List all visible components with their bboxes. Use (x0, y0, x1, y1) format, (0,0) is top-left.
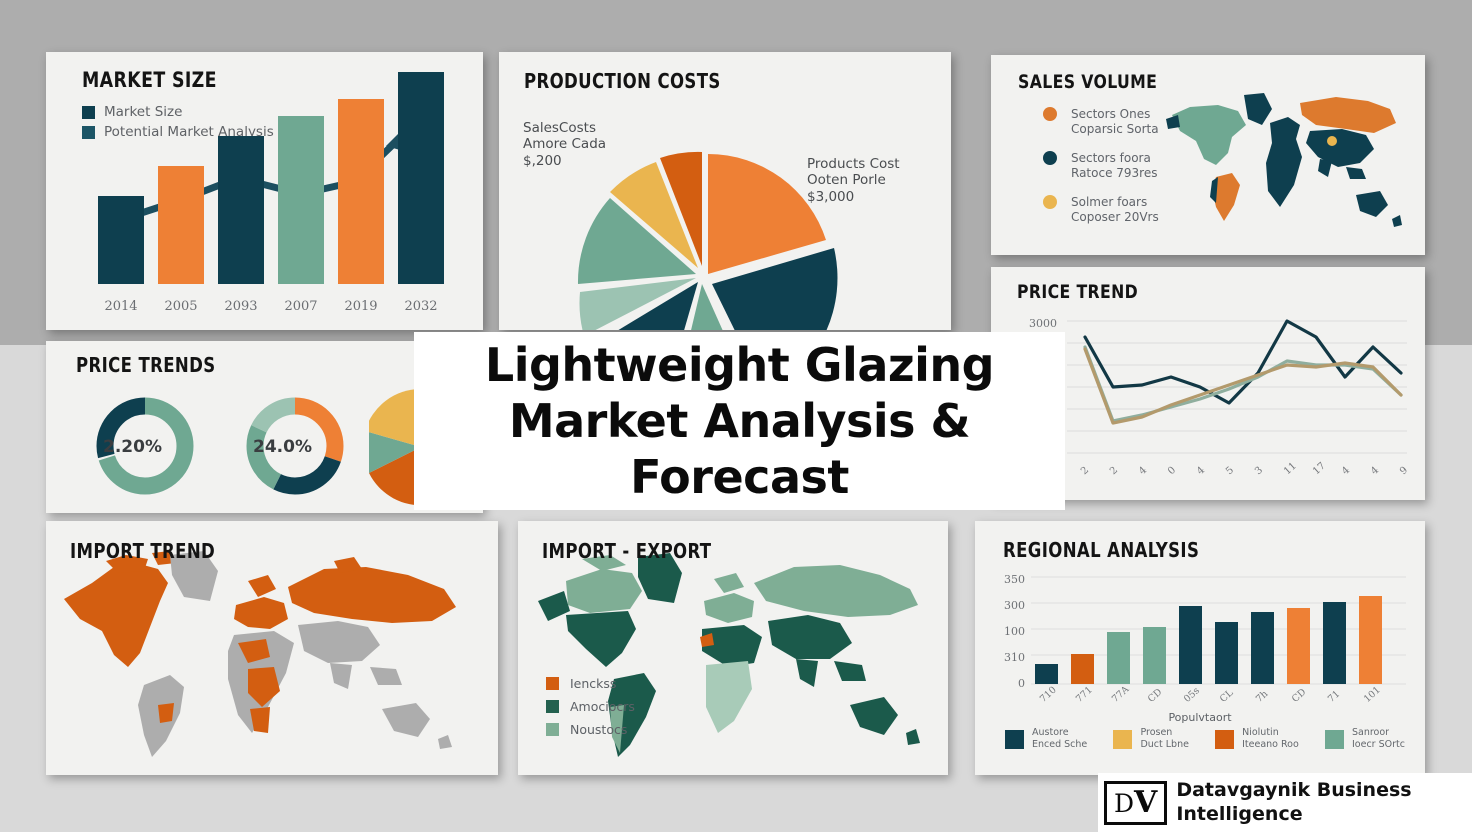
regional-analysis-x-labels: 710 771 77A CD 05s CL 7h CD 71 101 (1035, 689, 1395, 700)
x-tick-label: 2 (1079, 465, 1091, 477)
x-tick-label: 4 (1369, 465, 1381, 477)
panel-production-costs: PRODUCTION COSTS SalesCosts Amore Cada $… (499, 52, 951, 330)
bar (1107, 632, 1130, 684)
legend-item: Sectors foora Ratoce 793res (1043, 151, 1159, 181)
legend-swatch-icon (546, 723, 559, 736)
legend-item: Solmer foars Coposer 20Vrs (1043, 195, 1159, 225)
bar (1323, 602, 1346, 684)
legend-label: Niolutin Iteeano Roo (1242, 727, 1299, 752)
legend-label: Solmer foars Coposer 20Vrs (1071, 195, 1159, 225)
panel-market-size: MARKET SIZE Market Size Potential Market… (46, 52, 483, 330)
logo-watermark: DV Datavgaynik Business Intelligence (1098, 773, 1472, 832)
legend-dot-icon (1043, 195, 1057, 209)
logo-company-name: Datavgaynik Business Intelligence (1176, 779, 1411, 825)
x-tick-label: 5 (1224, 465, 1236, 477)
production-costs-title: PRODUCTION COSTS (524, 69, 721, 93)
page-title: Lightweight Glazing Market Analysis & Fo… (414, 337, 1065, 505)
legend-dot-icon (1043, 151, 1057, 165)
bar (218, 136, 264, 284)
x-tick-label: 2019 (338, 299, 384, 314)
legend-label: Prosen Duct Lbne (1140, 727, 1189, 752)
x-tick-label: 2093 (218, 299, 264, 314)
legend-item: Amociocrs (546, 699, 635, 714)
y-tick-label: 0 (989, 677, 1025, 690)
x-tick-label: 2007 (278, 299, 324, 314)
bar (278, 116, 324, 284)
x-tick-label: 0 (1166, 465, 1178, 477)
y-tick-label: 300 (989, 599, 1025, 612)
panel-import-export: IMPORT - EXPORT Ienckss (518, 521, 948, 775)
x-tick-label: 3 (1253, 465, 1265, 477)
bar (1179, 606, 1202, 684)
legend-label: Austore Enced Sche (1032, 727, 1087, 752)
bar (1287, 608, 1310, 684)
bar (1359, 596, 1382, 684)
import-export-legend: Ienckss Amociocrs Noustocs (546, 676, 635, 745)
panel-import-trend: IMPORT TREND (46, 521, 498, 775)
bar (1251, 612, 1274, 684)
y-tick-label: 3000 (1021, 317, 1057, 330)
legend-label: Amociocrs (570, 699, 635, 714)
donut-2-percent: 24.0% (253, 437, 312, 457)
logo-letter-v: V (1134, 785, 1157, 820)
y-tick-label: 100 (989, 625, 1025, 638)
x-tick-label: 2014 (98, 299, 144, 314)
regional-analysis-title: REGIONAL ANALYSIS (1003, 538, 1199, 562)
y-tick-label: 350 (989, 573, 1025, 586)
legend-swatch-icon (1325, 730, 1344, 749)
logo-mark-icon: DV (1104, 781, 1167, 825)
legend-item: Niolutin Iteeano Roo (1215, 727, 1299, 752)
legend-item: Ienckss (546, 676, 635, 691)
sales-volume-world-map (1160, 81, 1415, 246)
legend-item: Austore Enced Sche (1005, 727, 1087, 752)
import-export-title: IMPORT - EXPORT (542, 539, 711, 563)
bar (398, 72, 444, 284)
x-tick-label: 2 (1108, 465, 1120, 477)
y-tick-label: 310 (989, 651, 1025, 664)
legend-item: Prosen Duct Lbne (1113, 727, 1189, 752)
x-tick-label: 4 (1340, 465, 1352, 477)
regional-analysis-bars (1035, 569, 1395, 684)
legend-label: Sectors foora Ratoce 793res (1071, 151, 1157, 181)
title-card: Lightweight Glazing Market Analysis & Fo… (414, 332, 1065, 510)
legend-label: Noustocs (570, 722, 627, 737)
price-trend-title: PRICE TREND (1017, 281, 1138, 303)
x-tick-label: 4 (1195, 465, 1207, 477)
price-trend-lines (1067, 315, 1407, 465)
production-costs-pie (544, 100, 874, 330)
import-trend-world-map (52, 527, 492, 775)
legend-label: Sanroor Ioecr SOrtc (1352, 727, 1405, 752)
x-tick-label: 2032 (398, 299, 444, 314)
legend-swatch-icon (546, 677, 559, 690)
legend-swatch-icon (546, 700, 559, 713)
legend-item: Sectors Ones Coparsic Sorta (1043, 107, 1159, 137)
sales-volume-legend: Sectors Ones Coparsic Sorta Sectors foor… (1043, 107, 1159, 239)
bar (98, 196, 144, 284)
bar (1071, 654, 1094, 684)
regional-analysis-legend-title: Populvtaort (975, 711, 1425, 724)
bar (1143, 627, 1166, 684)
bar (338, 99, 384, 284)
legend-label: Ienckss (570, 676, 616, 691)
x-tick-label: 2005 (158, 299, 204, 314)
x-tick-label: 9 (1398, 465, 1410, 477)
import-trend-title: IMPORT TREND (70, 539, 215, 563)
donut-1-percent: 2.20% (103, 437, 162, 457)
bar (158, 166, 204, 284)
legend-swatch-icon (1005, 730, 1024, 749)
legend-dot-icon (1043, 107, 1057, 121)
price-trends-title: PRICE TRENDS (76, 353, 216, 377)
bar (1215, 622, 1238, 684)
regional-analysis-legend: Austore Enced Sche Prosen Duct Lbne Niol… (1005, 727, 1405, 752)
panel-sales-volume: SALES VOLUME Sectors Ones Coparsic Sorta… (991, 55, 1425, 255)
legend-swatch-icon (1113, 730, 1132, 749)
x-tick-label: 4 (1137, 465, 1149, 477)
sales-volume-title: SALES VOLUME (1018, 71, 1157, 93)
legend-item: Sanroor Ioecr SOrtc (1325, 727, 1405, 752)
market-size-x-labels: 2014 2005 2093 2007 2019 2032 (98, 299, 458, 314)
legend-item: Noustocs (546, 722, 635, 737)
logo-letter-d: D (1114, 789, 1134, 818)
legend-swatch-icon (1215, 730, 1234, 749)
market-size-bars (98, 89, 458, 284)
legend-label: Sectors Ones Coparsic Sorta (1071, 107, 1159, 137)
panel-regional-analysis: REGIONAL ANALYSIS 350 300 100 310 0 710 … (975, 521, 1425, 775)
